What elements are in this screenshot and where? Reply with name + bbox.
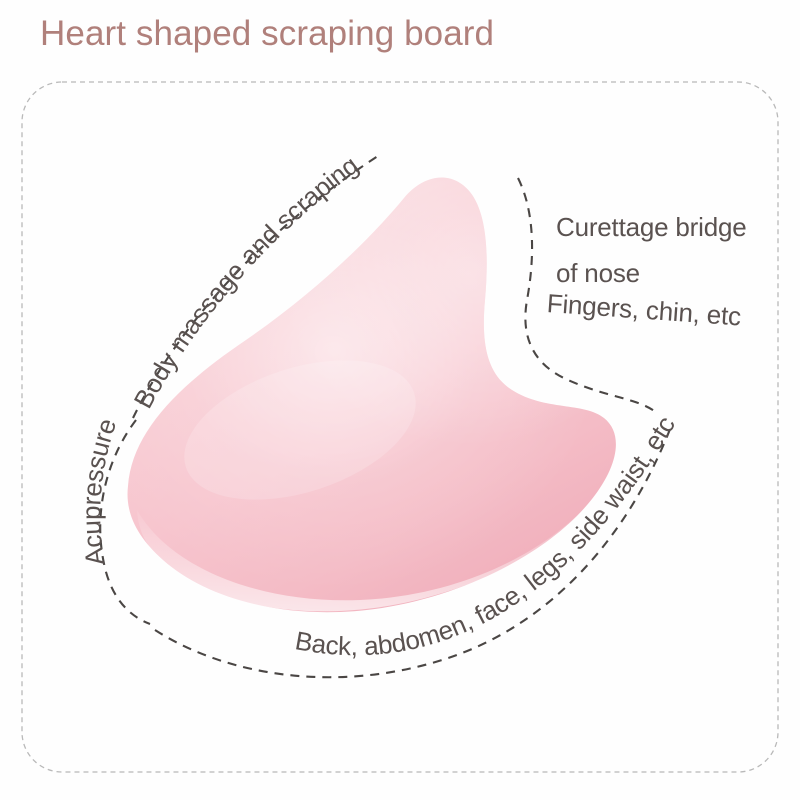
annotation-acupressure: Acupressure — [76, 415, 122, 568]
product-illustration: Body massage and scraping Acupressure Ba… — [0, 0, 800, 800]
gua-sha-stone — [128, 178, 616, 613]
product-infographic: Heart shaped scraping board — [0, 0, 800, 800]
annotation-of-nose: of nose — [556, 258, 640, 289]
annotation-curettage-bridge: Curettage bridge — [556, 212, 746, 243]
